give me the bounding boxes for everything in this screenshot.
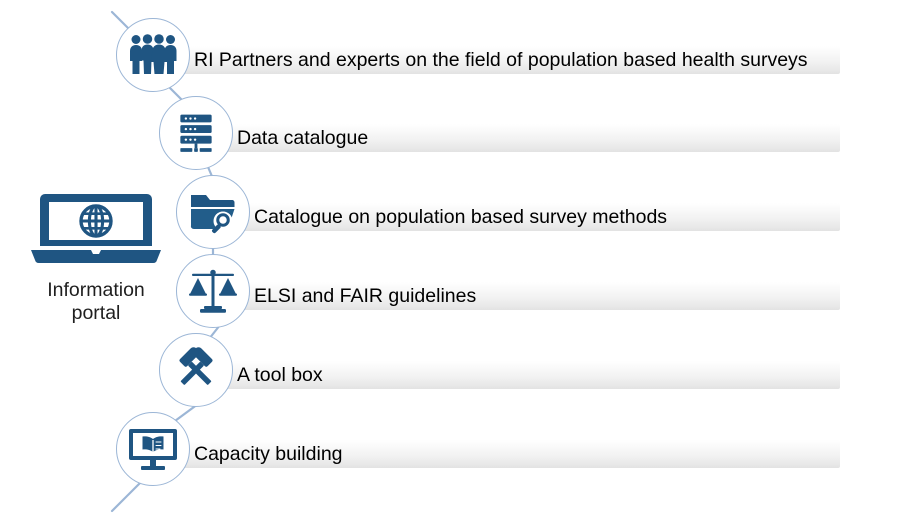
crossed-hammers-icon <box>171 345 221 395</box>
group-of-people-icon <box>128 34 178 76</box>
node-circle-survey-methods-catalogue[interactable] <box>176 175 250 249</box>
node-circle-elsi-fair[interactable] <box>176 254 250 328</box>
server-rack-icon <box>173 110 219 156</box>
node-label-data-catalogue: Data catalogue <box>237 124 368 152</box>
node-label-tool-box: A tool box <box>237 361 323 389</box>
node-circle-data-catalogue[interactable] <box>159 96 233 170</box>
information-portal-block[interactable]: Information portal <box>22 190 170 325</box>
node-circle-partners[interactable] <box>116 18 190 92</box>
node-label-capacity-building: Capacity building <box>194 440 343 468</box>
folder-search-icon <box>188 189 238 235</box>
connector-line-exit <box>112 483 140 511</box>
information-portal-caption: Information portal <box>22 279 170 325</box>
node-label-partners: RI Partners and experts on the field of … <box>194 46 808 74</box>
laptop-globe-icon <box>29 255 163 272</box>
information-portal-caption-line2: portal <box>22 302 170 325</box>
node-circle-tool-box[interactable] <box>159 333 233 407</box>
node-circle-capacity-building[interactable] <box>116 412 190 486</box>
information-portal-caption-line1: Information <box>22 279 170 302</box>
balance-scales-icon <box>187 266 239 316</box>
node-label-elsi-fair: ELSI and FAIR guidelines <box>254 282 476 310</box>
monitor-book-icon <box>128 426 178 472</box>
diagram-canvas: RI Partners and experts on the field of … <box>0 0 920 518</box>
node-label-survey-methods-catalogue: Catalogue on population based survey met… <box>254 203 667 231</box>
